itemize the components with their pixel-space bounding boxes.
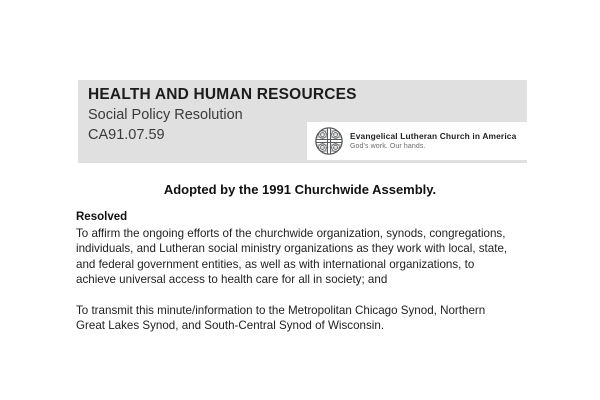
resolved-label: Resolved [76,210,516,225]
elca-logo-lockup: Evangelical Lutheran Church in America G… [307,122,527,160]
resolution-paragraph-2: To transmit this minute/information to t… [76,303,516,334]
resolution-paragraph-1: To affirm the ongoing efforts of the chu… [76,226,516,288]
logo-text-group: Evangelical Lutheran Church in America G… [350,132,516,149]
organization-tagline: God's work. Our hands. [350,143,516,150]
resolution-body: Resolved To affirm the ongoing efforts o… [76,210,516,333]
elca-cross-circle-icon [315,127,343,155]
organization-name: Evangelical Lutheran Church in America [350,132,516,140]
adopted-heading: Adopted by the 1991 Churchwide Assembly. [0,182,600,197]
page-title: HEALTH AND HUMAN RESOURCES [88,84,388,105]
